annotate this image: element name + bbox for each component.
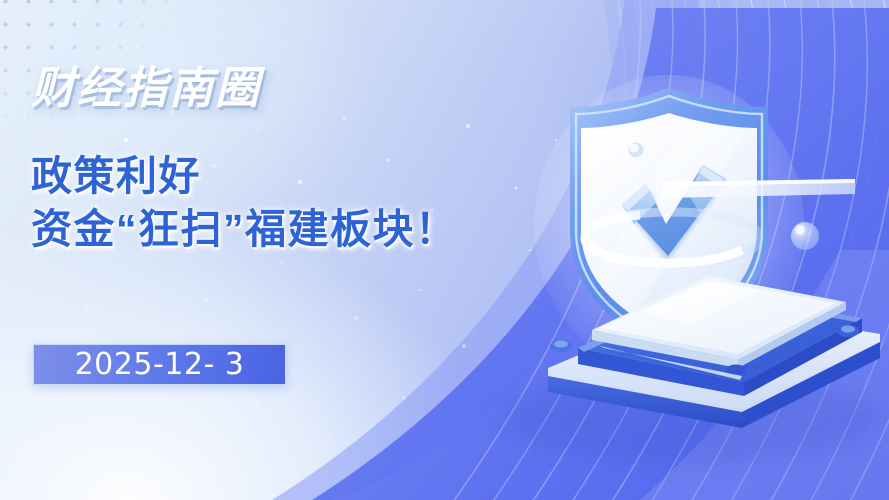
poster-canvas: 财经指南圈 政策利好 资金“狂扫”福建板块！ 2025-12- 3 [0, 0, 889, 500]
headline-block: 政策利好 资金“狂扫”福建板块！ [31, 150, 458, 257]
glass-bar [663, 179, 855, 198]
floating-bubble [791, 222, 819, 250]
pedestal-corner-pins [550, 325, 859, 376]
shield-dot-detail [629, 143, 644, 158]
headline-line-2: 资金“狂扫”福建板块！ [31, 203, 458, 256]
checkmark-icon [622, 165, 726, 262]
pedestal-platform [500, 276, 880, 464]
peach-accent-curves [740, 120, 889, 480]
brand-logo: 财经指南圈 [31, 52, 261, 116]
orbit-ring [585, 212, 759, 264]
headline-line-1: 政策利好 [31, 150, 458, 203]
background-wash-top-right [529, 0, 889, 280]
shield-icon [570, 88, 830, 354]
curve-striations [530, 0, 889, 500]
shield-glow [534, 75, 804, 375]
date-badge: 2025-12- 3 [33, 344, 286, 385]
date-badge-label: 2025-12- 3 [75, 347, 245, 382]
